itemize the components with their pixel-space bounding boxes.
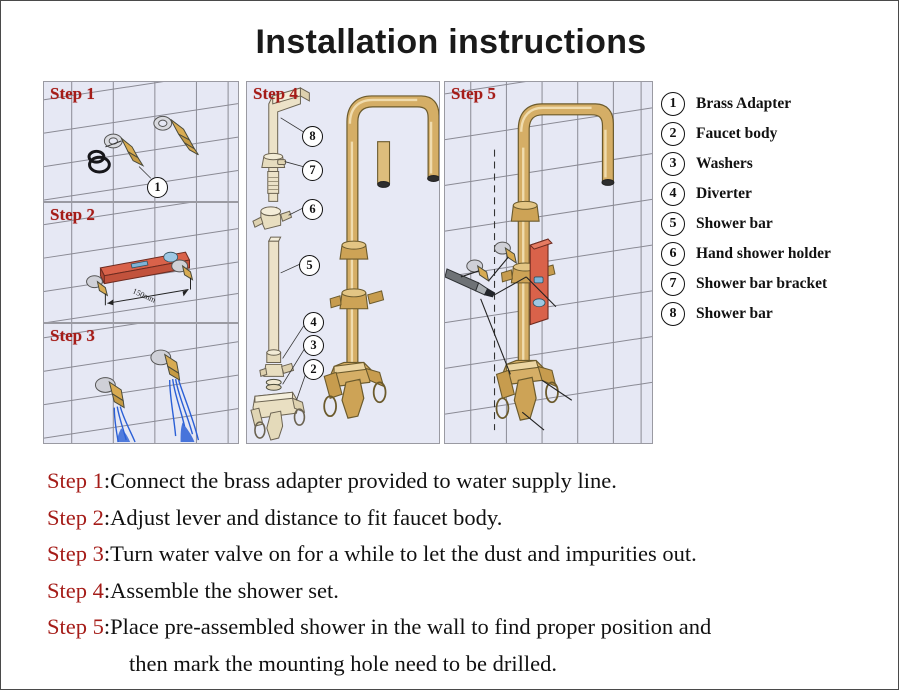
legend-number-2: 2 (661, 122, 685, 146)
callout-7: 7 (302, 160, 323, 181)
callout-8: 8 (302, 126, 323, 147)
legend-label-7: Shower bar bracket (696, 275, 827, 293)
legend-item-4: 4 Diverter (661, 179, 897, 209)
step-key-5: Step 5 (47, 614, 104, 639)
step-text-5: Place pre-assembled shower in the wall t… (110, 614, 711, 639)
legend-label-3: Washers (696, 155, 753, 173)
page-title: Installation instructions (1, 23, 900, 62)
step4-drawing (247, 82, 439, 443)
panel-label-step-1: Step 1 (50, 84, 95, 104)
step-line-5-continuation: then mark the mounting hole need to be d… (47, 646, 877, 683)
panel-step-5: Step 5 (444, 81, 653, 444)
panel-step-2: Step 2 150mm (43, 202, 239, 323)
parts-legend: 1 Brass Adapter 2 Faucet body 3 Washers … (661, 89, 897, 329)
step-line-2: Step 2:Adjust lever and distance to fit … (47, 500, 877, 537)
step-line-4: Step 4:Assemble the shower set. (47, 573, 877, 610)
legend-item-7: 7 Shower bar bracket (661, 269, 897, 299)
legend-label-8: Shower bar (696, 305, 773, 323)
panel-label-step-3: Step 3 (50, 326, 95, 346)
callout-3: 3 (303, 335, 324, 356)
step-text-2: Adjust lever and distance to fit faucet … (110, 505, 502, 530)
legend-item-8: 8 Shower bar (661, 299, 897, 329)
legend-number-6: 6 (661, 242, 685, 266)
step-line-5: Step 5:Place pre-assembled shower in the… (47, 609, 877, 646)
legend-number-7: 7 (661, 272, 685, 296)
callout-5: 5 (299, 255, 320, 276)
step-text-3: Turn water valve on for a while to let t… (110, 541, 697, 566)
legend-item-2: 2 Faucet body (661, 119, 897, 149)
legend-item-3: 3 Washers (661, 149, 897, 179)
step-key-4: Step 4 (47, 578, 104, 603)
legend-label-6: Hand shower holder (696, 245, 831, 263)
legend-label-1: Brass Adapter (696, 95, 791, 113)
step5-drawing (445, 82, 652, 443)
legend-label-2: Faucet body (696, 125, 777, 143)
callout-6: 6 (302, 199, 323, 220)
panel-step-3: Step 3 (43, 323, 239, 444)
step-key-3: Step 3 (47, 541, 104, 566)
callout-1: 1 (147, 177, 168, 198)
legend-number-3: 3 (661, 152, 685, 176)
panel-step-1: Step 1 1 (43, 81, 239, 202)
panel-label-step-2: Step 2 (50, 205, 95, 225)
legend-number-5: 5 (661, 212, 685, 236)
step-key-1: Step 1 (47, 468, 104, 493)
step-line-1: Step 1:Connect the brass adapter provide… (47, 463, 877, 500)
step-key-2: Step 2 (47, 505, 104, 530)
callout-2: 2 (303, 359, 324, 380)
document-frame: Installation instructions (0, 0, 899, 690)
step-text-1: Connect the brass adapter provided to wa… (110, 468, 617, 493)
step-instructions: Step 1:Connect the brass adapter provide… (47, 463, 877, 682)
legend-number-4: 4 (661, 182, 685, 206)
legend-item-5: 5 Shower bar (661, 209, 897, 239)
legend-number-8: 8 (661, 302, 685, 326)
legend-item-6: 6 Hand shower holder (661, 239, 897, 269)
step-text-4: Assemble the shower set. (110, 578, 339, 603)
bracket-assembled (340, 241, 368, 259)
legend-label-5: Shower bar (696, 215, 773, 233)
legend-number-1: 1 (661, 92, 685, 116)
callout-4: 4 (303, 312, 324, 333)
step-line-3: Step 3:Turn water valve on for a while t… (47, 536, 877, 573)
legend-item-1: 1 Brass Adapter (661, 89, 897, 119)
panel-label-step-5: Step 5 (451, 84, 496, 104)
panel-step-4: Step 4 8 7 6 5 4 3 2 (246, 81, 440, 444)
panel-label-step-4: Step 4 (253, 84, 298, 104)
legend-label-4: Diverter (696, 185, 752, 203)
